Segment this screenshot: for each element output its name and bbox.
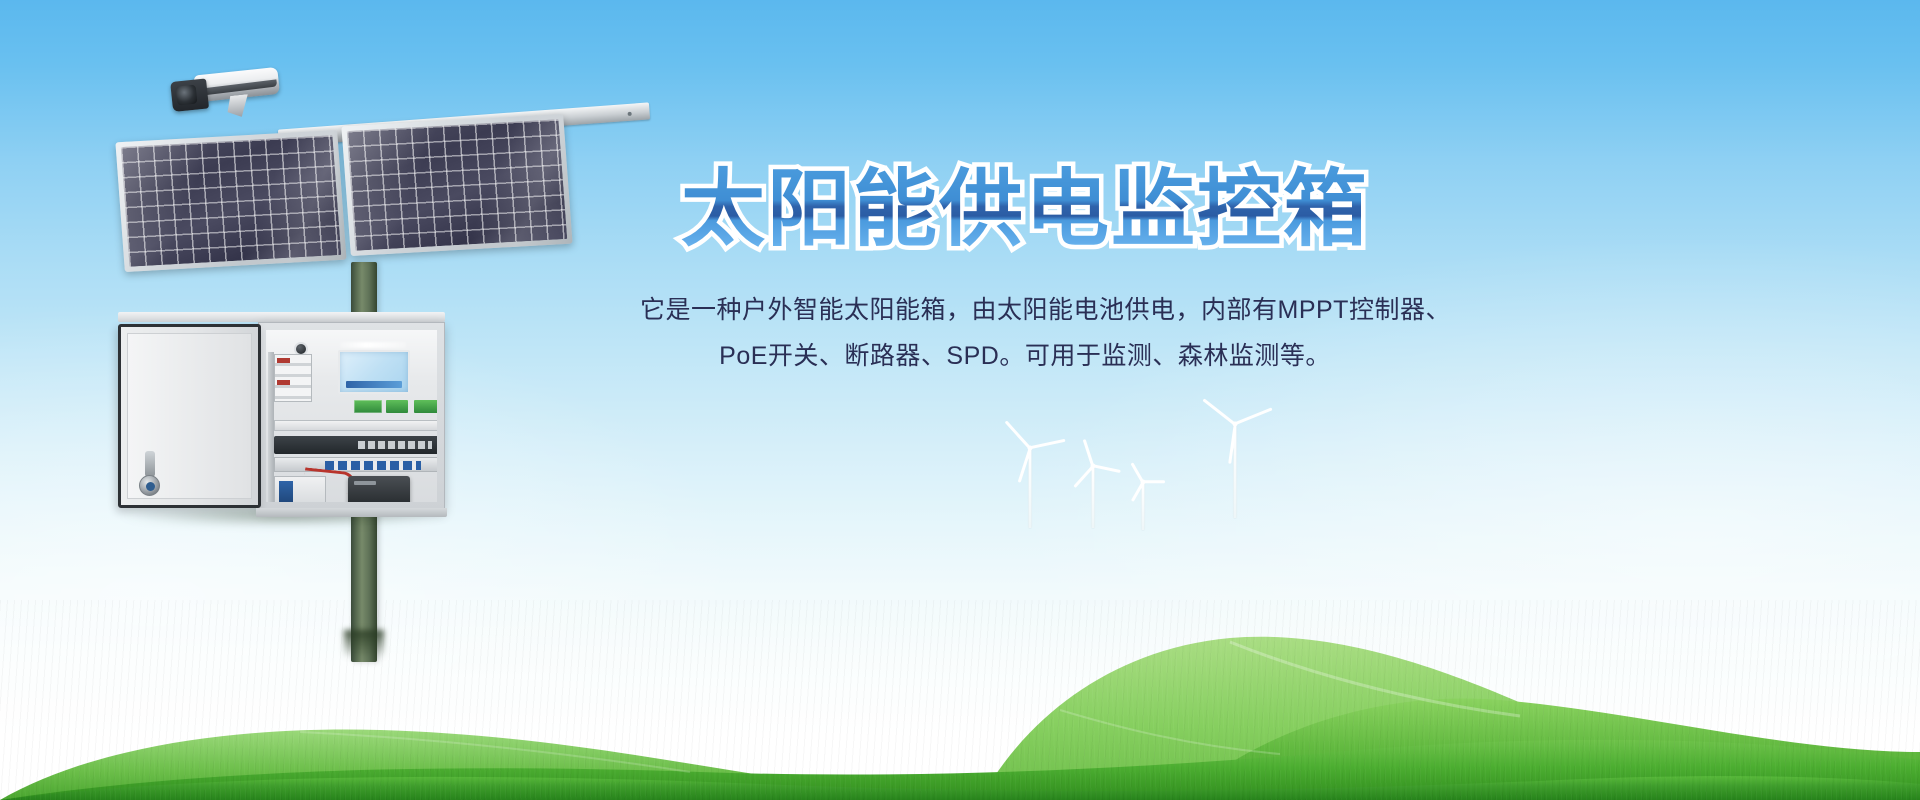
solar-panel-right	[341, 114, 572, 256]
mppt-controller-display	[338, 350, 410, 394]
cabinet-door[interactable]	[118, 324, 261, 508]
mounting-bar	[274, 420, 437, 431]
solar-panel-left	[115, 130, 346, 272]
subtitle-line-1: 它是一种户外智能太阳能箱，由太阳能电池供电，内部有MPPT控制器、	[640, 287, 1410, 333]
turbine-blade	[1143, 481, 1165, 484]
turbine-mast	[1142, 482, 1145, 530]
wind-turbine-1	[1010, 448, 1050, 528]
cabinet-rain-hood	[118, 312, 445, 322]
network-switch	[274, 436, 437, 454]
cabinet-door-handle[interactable]	[145, 451, 155, 477]
subtitle-line-2: PoE开关、断路器、SPD。可用于监测、森林监测等。	[640, 333, 1410, 379]
green-terminal-connector	[386, 400, 408, 413]
terminal-block	[274, 354, 312, 402]
turbine-mast	[1092, 466, 1095, 528]
green-terminal-connector	[354, 400, 382, 413]
pole-base-shadow	[344, 630, 384, 658]
solar-panel-cells	[121, 135, 341, 267]
battery-module	[348, 476, 410, 502]
cabinet-interior	[266, 330, 437, 502]
poe-switch	[274, 457, 437, 472]
green-terminal-connector	[414, 400, 437, 413]
banner-subtitle: 它是一种户外智能太阳能箱，由太阳能电池供电，内部有MPPT控制器、 PoE开关、…	[640, 287, 1410, 380]
cabinet-lock-icon[interactable]	[139, 475, 160, 496]
cabinet-led-light	[340, 342, 406, 348]
turbine-mast	[1029, 448, 1032, 528]
banner-text-block: 太阳能供电监控箱 太阳能供电监控箱 它是一种户外智能太阳能箱，由太阳能电池供电，…	[640, 165, 1410, 380]
wind-turbine-2	[1077, 466, 1109, 528]
cabinet-base	[256, 508, 447, 517]
circuit-breaker	[274, 476, 326, 502]
camera-lens-icon	[176, 85, 198, 106]
page-title-fill: 太阳能供电监控箱	[681, 165, 1369, 253]
solar-cabinet-hero-banner: 太阳能供电监控箱 太阳能供电监控箱 它是一种户外智能太阳能箱，由太阳能电池供电，…	[0, 0, 1920, 800]
page-title: 太阳能供电监控箱 太阳能供电监控箱	[681, 165, 1369, 253]
solar-power-cabinet	[118, 312, 453, 517]
cabinet-enclosure	[258, 322, 445, 510]
solar-panel-cells	[347, 119, 567, 251]
wind-turbine-3	[1213, 424, 1257, 518]
rail-bolt	[628, 112, 632, 116]
wind-turbine-4	[1130, 482, 1156, 530]
solar-panel-array	[118, 110, 588, 280]
